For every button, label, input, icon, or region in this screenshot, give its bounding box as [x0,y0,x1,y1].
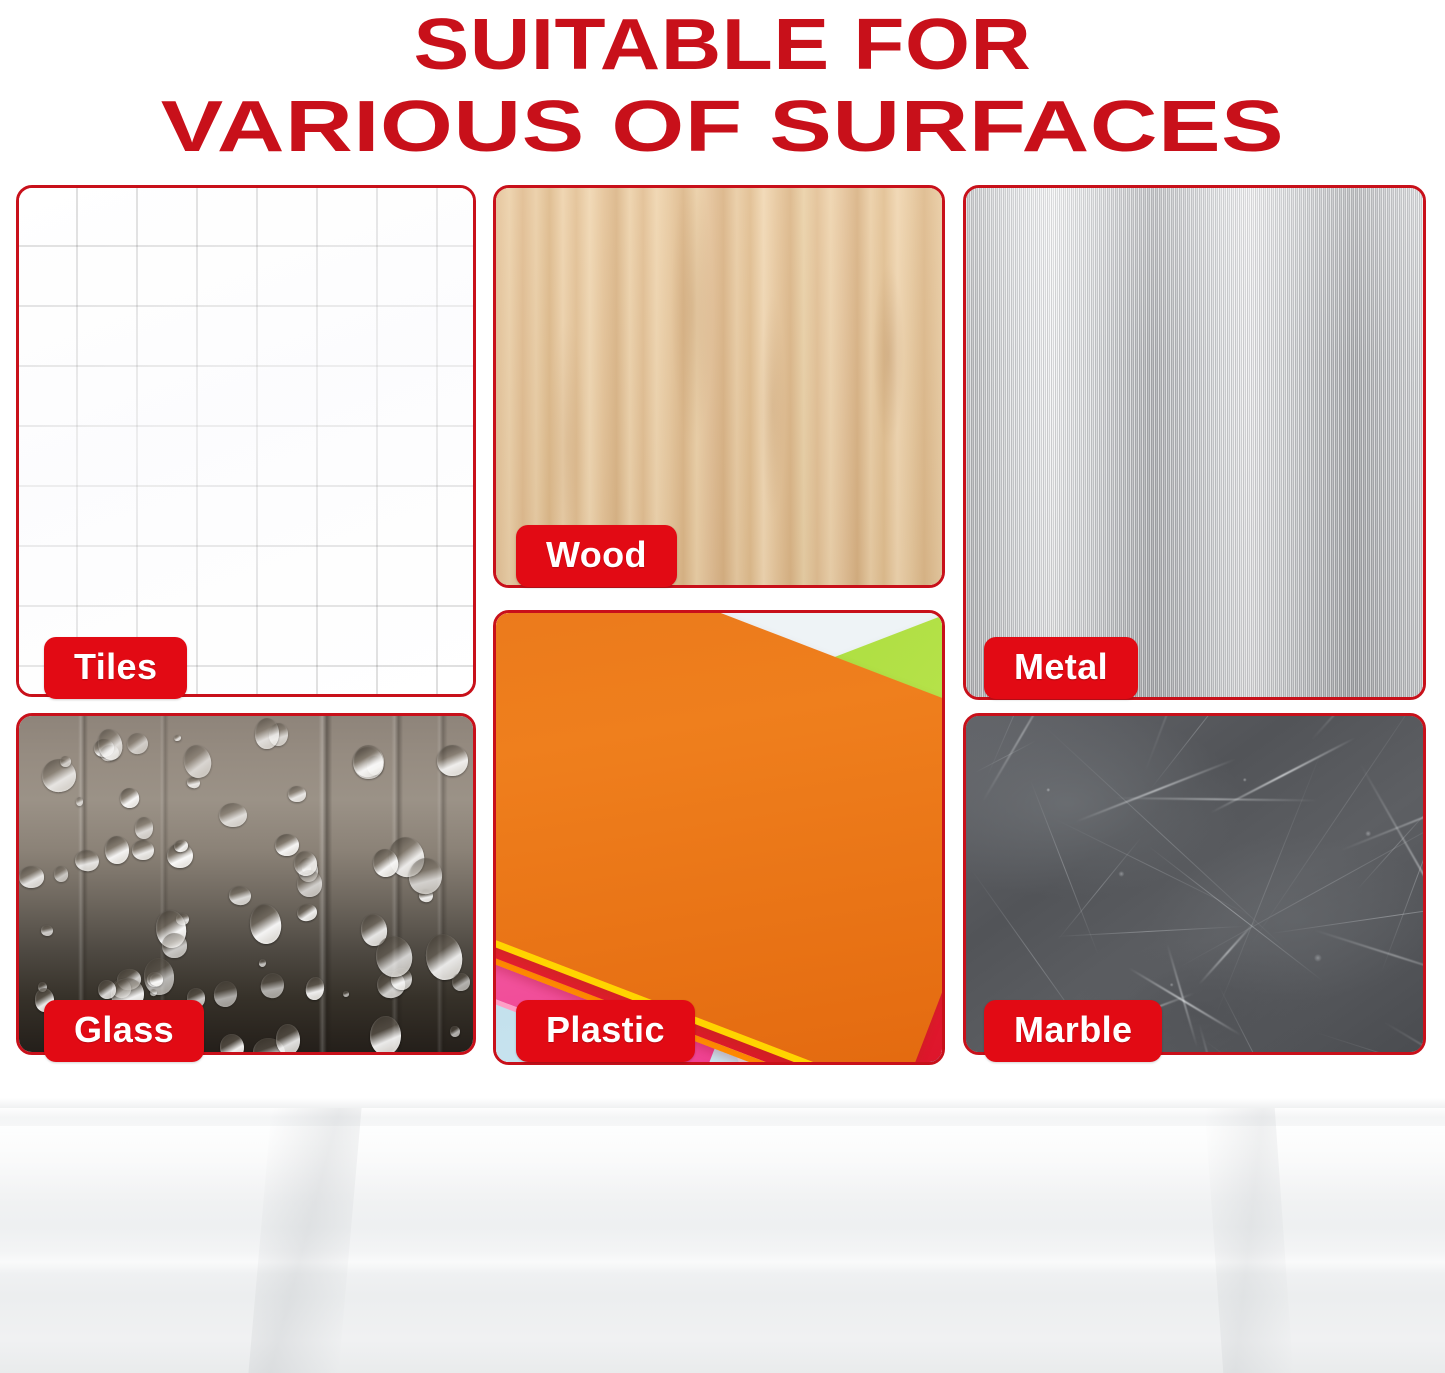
water-droplet [53,865,68,882]
water-droplet [149,989,157,997]
water-droplet [131,839,155,861]
water-droplet [228,884,253,906]
headline-line-2: VARIOUS OF SURFACES [0,86,1445,168]
water-droplet [73,848,100,873]
water-droplet [295,903,317,923]
water-droplet [134,817,153,839]
water-droplet [369,1016,401,1052]
water-droplet [353,745,384,779]
surface-badge-marble: Marble [984,1000,1162,1062]
water-droplet [59,756,71,768]
water-droplet [258,959,267,969]
water-droplet [212,979,240,1009]
water-droplet [451,972,471,992]
water-droplet [258,971,286,1000]
water-droplet [248,903,284,946]
plastic-texture [496,613,942,1062]
water-droplet [449,1026,460,1038]
water-droplet [40,758,77,795]
water-droplet [255,717,280,748]
surface-badge-glass: Glass [44,1000,204,1062]
surface-card-plastic[interactable] [493,610,945,1065]
water-droplet [19,866,45,889]
surface-badge-plastic: Plastic [516,1000,695,1062]
water-droplet [125,731,150,756]
tiles-texture [19,188,473,694]
metal-texture [966,188,1423,697]
water-droplet [436,745,468,777]
surface-card-tiles[interactable] [16,185,476,697]
water-droplet [219,1033,245,1052]
water-droplet [288,786,306,802]
water-droplet [174,734,182,741]
water-droplet [40,924,54,937]
water-droplet [276,1023,302,1052]
surface-badge-tiles: Tiles [44,637,187,699]
water-droplet [119,787,141,809]
water-droplet [75,797,82,806]
water-droplet [162,933,188,958]
strip-top-edge [0,1098,1445,1108]
tile-sheen-overlay [19,188,473,694]
product-photo-strip [0,1098,1445,1373]
water-droplet [304,976,325,1001]
surface-badge-wood: Wood [516,525,677,587]
surface-card-grid [16,185,1426,1070]
headline-block: SUITABLE FOR VARIOUS OF SURFACES [0,4,1445,168]
surface-badge-metal: Metal [984,637,1138,699]
water-droplet [274,834,299,858]
headline-line-1: SUITABLE FOR [0,4,1445,86]
water-droplet [104,835,129,864]
water-droplet [94,727,124,762]
water-droplet [181,743,214,781]
surface-card-metal[interactable] [963,185,1426,700]
metal-sheen-overlay [966,188,1423,697]
water-droplet [219,802,248,827]
water-droplet [343,991,349,997]
